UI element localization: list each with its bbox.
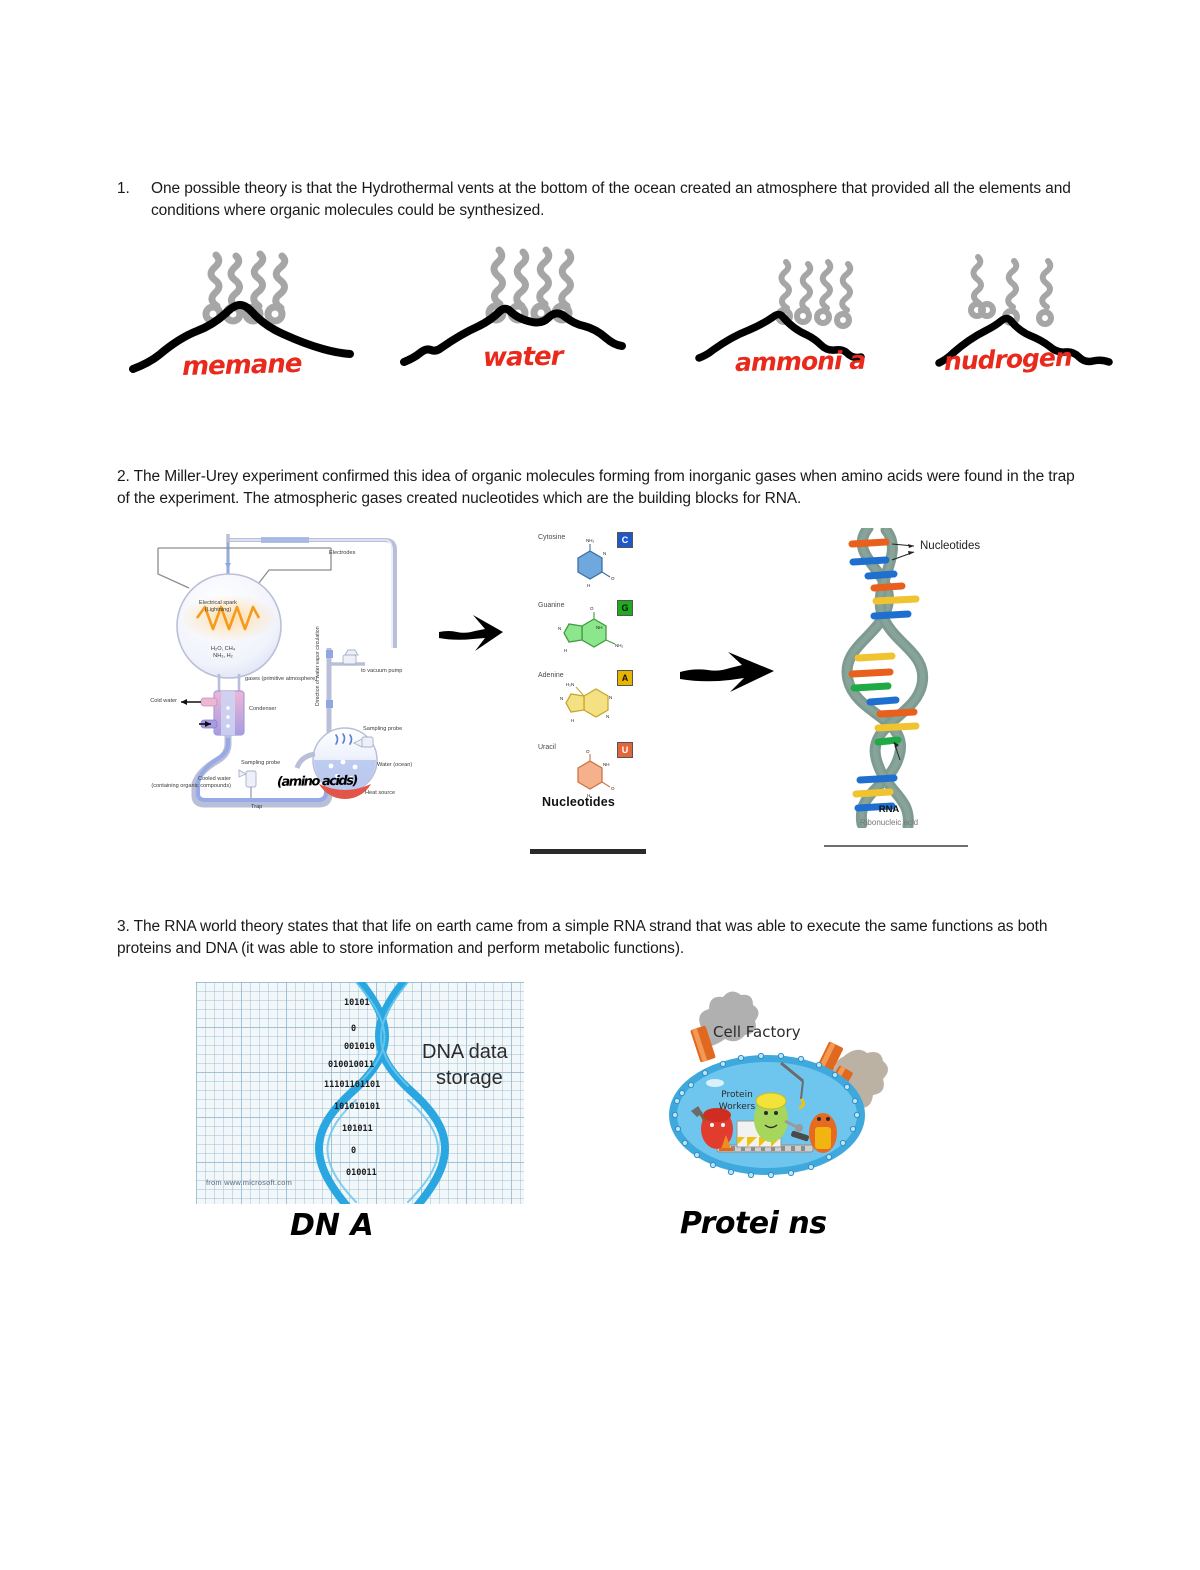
list-item-1: 1. One possible theory is that the Hydro…	[117, 178, 1082, 222]
rna-panel: Nucleotides RNA Ribonucleic acid	[828, 528, 978, 828]
svg-text:N: N	[603, 551, 606, 556]
dna-bits-row-2: 0	[351, 1024, 356, 1034]
smoke-plume-4	[971, 257, 1051, 324]
cell-factory-title: Cell Factory	[713, 1023, 801, 1041]
miller-urey-figure: Electrodes Electrical spark (Lightning) …	[133, 528, 433, 808]
svg-text:N: N	[606, 714, 609, 719]
rna-title: RNA	[814, 804, 964, 815]
handwritten-dna-label: DN A	[290, 1208, 374, 1243]
svg-text:H₂N: H₂N	[566, 682, 574, 687]
svg-text:NH: NH	[596, 625, 603, 630]
list-text-3: 3. The RNA world theory states that that…	[117, 916, 1077, 960]
label-cold-water: Cold water	[131, 698, 177, 705]
svg-text:H: H	[571, 718, 574, 723]
label-cooled-water: Cooled water (containing organic compoun…	[127, 776, 231, 790]
arrow-1	[437, 608, 507, 657]
nucleotide-badge-g: G	[617, 600, 633, 616]
smoke-plume-3	[778, 262, 850, 326]
label-sampling-probe-right: Sampling probe	[363, 726, 402, 733]
uracil-structure: O NH O H	[578, 749, 615, 798]
dna-data-storage-image: 10101 0 001010 010010011 11101101101 101…	[196, 982, 524, 1204]
dna-bits-row-1: 10101	[344, 998, 370, 1008]
adenine-structure: H₂N N N H N	[560, 682, 612, 723]
svg-text:O: O	[611, 576, 615, 581]
protein-workers-label: Protein Workers	[707, 1089, 767, 1113]
label-water-ocean: Water (ocean)	[377, 762, 412, 769]
label-electrical-spark: Electrical spark (Lightning)	[199, 600, 237, 614]
nucleotide-badge-a: A	[617, 670, 633, 686]
list-text-2: 2. The Miller-Urey experiment confirmed …	[117, 466, 1077, 510]
nucleotides-panel: NH₂ N O H O NH NH₂ H N	[528, 528, 648, 818]
label-gases-primitive: gases (primitive atmosphere)	[245, 676, 317, 683]
vent-label-1: memane	[182, 349, 302, 382]
dna-bits-row-4: 010010011	[328, 1060, 374, 1070]
svg-text:NH₂: NH₂	[586, 538, 594, 543]
nucleotide-badge-u: U	[617, 742, 633, 758]
document-page: 1. One possible theory is that the Hydro…	[0, 0, 1200, 1570]
vent-label-2: water	[483, 342, 563, 373]
label-heat-source: Heat source	[365, 790, 395, 797]
dna-bits-row-3: 001010	[344, 1042, 375, 1052]
rule-under-rna	[824, 845, 968, 847]
nucleotides-panel-title: Nucleotides	[542, 795, 615, 809]
label-direction-vapor: Direction of water vapor circulation	[315, 626, 321, 706]
dna-bits-row-8: 0	[351, 1146, 356, 1156]
handwritten-proteins-label: Protei ns	[680, 1206, 827, 1241]
svg-text:O: O	[590, 606, 594, 611]
rna-helix-diagram	[828, 528, 978, 828]
nucleotide-name-guanine: Guanine	[538, 602, 564, 609]
svg-text:N: N	[560, 696, 563, 701]
cytosine-structure: NH₂ N O H	[578, 538, 615, 588]
handwritten-amino-acids: (amino acids)	[277, 774, 357, 790]
list-marker-1: 1.	[117, 178, 151, 222]
label-to-vacuum-pump: to vacuum pump	[361, 668, 402, 675]
rna-subtitle: Ribonucleic acid	[814, 818, 964, 827]
dna-bits-row-7: 101011	[342, 1124, 373, 1134]
label-sampling-probe-left: Sampling probe	[241, 760, 280, 767]
dna-credit: from www.microsoft.com	[206, 1178, 292, 1187]
rule-under-nucleotides	[530, 849, 646, 854]
svg-text:N: N	[609, 695, 612, 700]
nucleotide-name-cytosine: Cytosine	[538, 534, 565, 541]
svg-text:NH₂: NH₂	[615, 643, 623, 648]
dna-caption-line-2: storage	[436, 1066, 503, 1091]
svg-text:O: O	[586, 749, 590, 754]
nucleotide-name-uracil: Uracil	[538, 744, 556, 751]
svg-text:O: O	[611, 786, 615, 791]
dna-bits-row-9: 010011	[346, 1168, 377, 1178]
cell-factory-illustration	[645, 985, 895, 1180]
svg-text:H: H	[587, 583, 590, 588]
dna-bits-row-5: 11101101101	[324, 1080, 380, 1090]
dna-caption-line-1: DNA data	[422, 1040, 508, 1065]
label-trap: Trap	[251, 804, 262, 811]
svg-text:N: N	[558, 626, 561, 631]
guanine-structure: O NH NH₂ H N	[558, 606, 623, 653]
dna-bits-row-6: 101010101	[334, 1102, 380, 1112]
rna-annotation-nucleotides: Nucleotides	[920, 540, 980, 552]
arrow-2	[678, 648, 778, 697]
cell-factory-image: Cell Factory Protein Workers	[645, 985, 895, 1180]
nucleotide-name-adenine: Adenine	[538, 672, 564, 679]
vent-label-4: nudrogen	[943, 343, 1072, 376]
svg-text:NH: NH	[603, 762, 610, 767]
label-condenser: Condenser	[249, 706, 276, 713]
svg-text:H: H	[564, 648, 567, 653]
list-text-1: One possible theory is that the Hydrothe…	[151, 178, 1082, 222]
label-gases-formula: H₂O, CH₄ NH₃, H₂	[211, 646, 235, 660]
vent-label-3: ammoni a	[735, 346, 866, 377]
nucleotide-badge-c: C	[617, 532, 633, 548]
label-electrodes: Electrodes	[329, 550, 355, 557]
